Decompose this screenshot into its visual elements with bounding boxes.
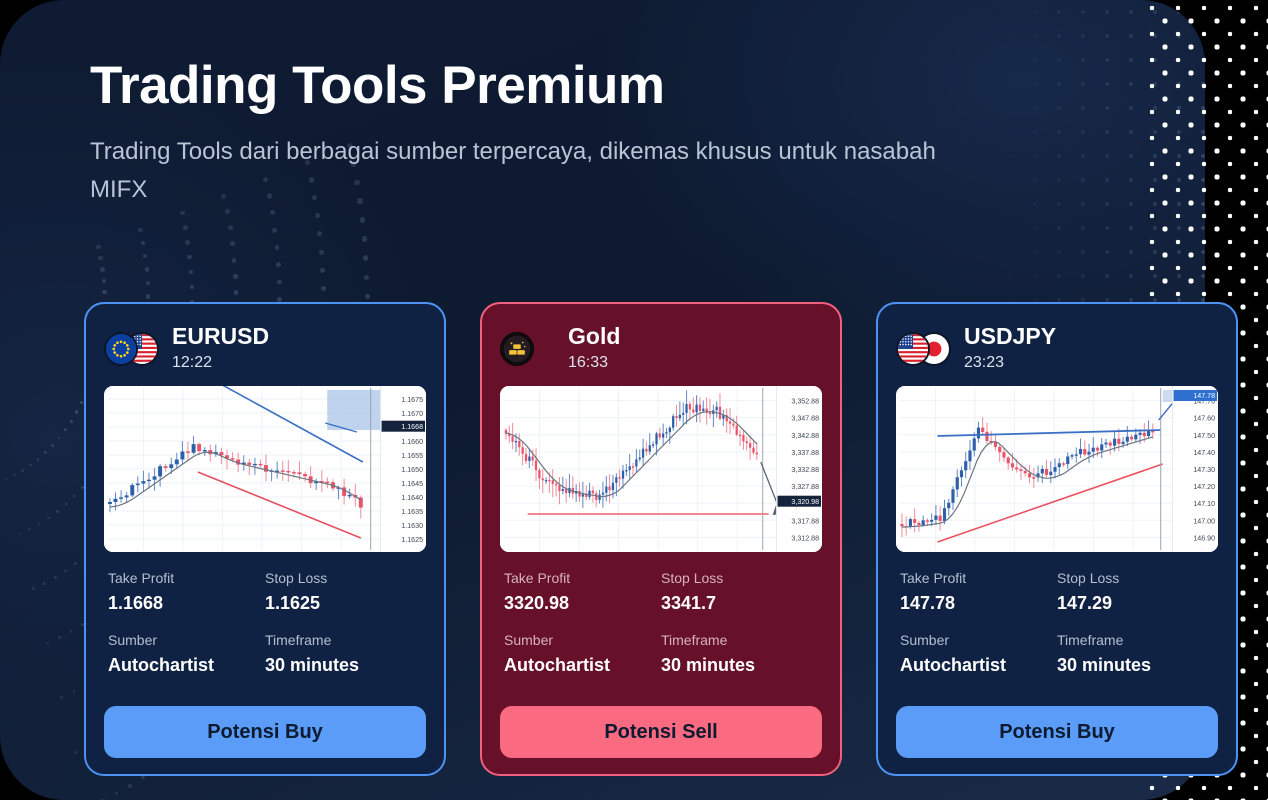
take-profit-value: 3320.98 (504, 590, 661, 616)
svg-text:147.00: 147.00 (1193, 517, 1215, 525)
svg-text:147.10: 147.10 (1193, 500, 1215, 508)
svg-text:1.1630: 1.1630 (401, 522, 423, 530)
us-flag-icon (896, 332, 930, 366)
signal-card-eurusd[interactable]: EURUSD 12:22 1.16751.16701.16651.16601.1… (84, 302, 446, 776)
potensi-cta-button[interactable]: Potensi Buy (104, 706, 426, 758)
svg-text:3,320.98: 3,320.98 (791, 498, 819, 506)
signal-card-usdjpy[interactable]: USDJPY 23:23 147.70147.60147.50147.40147… (876, 302, 1238, 776)
symbol-name: EURUSD (172, 323, 269, 349)
signal-card-gold[interactable]: Gold 16:33 3,352.883,347.883,342.883,337… (480, 302, 842, 776)
sumber-cell: Sumber Autochartist (900, 630, 1057, 678)
svg-text:1.1668: 1.1668 (401, 423, 423, 431)
svg-text:1.1660: 1.1660 (401, 438, 423, 446)
card-header: USDJPY 23:23 (896, 322, 1218, 376)
stop-loss-label: Stop Loss (1057, 568, 1214, 589)
stats-row-meta: Sumber Autochartist Timeframe 30 minutes (108, 630, 422, 678)
stats-row-targets: Take Profit 1.1668 Stop Loss 1.1625 (108, 568, 422, 616)
stop-loss-cell: Stop Loss 147.29 (1057, 568, 1214, 616)
card-header: Gold 16:33 (500, 322, 822, 376)
svg-text:147.50: 147.50 (1193, 432, 1215, 440)
hero-header: Trading Tools Premium Trading Tools dari… (90, 56, 970, 210)
page-title: Trading Tools Premium (90, 56, 970, 117)
stats-row-meta: Sumber Autochartist Timeframe 30 minutes (504, 630, 818, 678)
svg-text:3,347.88: 3,347.88 (791, 415, 819, 423)
svg-text:1.1650: 1.1650 (401, 466, 423, 474)
sumber-label: Sumber (900, 630, 1057, 651)
potensi-cta-button[interactable]: Potensi Sell (500, 706, 822, 758)
timeframe-value: 30 minutes (661, 652, 818, 678)
signal-time: 12:22 (172, 351, 269, 375)
svg-text:1.1655: 1.1655 (401, 452, 423, 460)
stats-row-targets: Take Profit 147.78 Stop Loss 147.29 (900, 568, 1214, 616)
svg-text:1.1675: 1.1675 (401, 396, 423, 404)
take-profit-label: Take Profit (900, 568, 1057, 589)
svg-text:1.1670: 1.1670 (401, 410, 423, 418)
sumber-value: Autochartist (900, 652, 1057, 678)
sumber-cell: Sumber Autochartist (108, 630, 265, 678)
svg-text:3,337.88: 3,337.88 (791, 449, 819, 457)
signal-card-list: EURUSD 12:22 1.16751.16701.16651.16601.1… (84, 302, 1238, 776)
take-profit-label: Take Profit (108, 568, 265, 589)
signal-stats: Take Profit 1.1668 Stop Loss 1.1625 Sumb… (104, 568, 426, 678)
timeframe-label: Timeframe (1057, 630, 1214, 651)
take-profit-value: 1.1668 (108, 590, 265, 616)
price-chart[interactable]: 1.16751.16701.16651.16601.16551.16501.16… (104, 386, 426, 552)
svg-text:147.20: 147.20 (1193, 483, 1215, 491)
symbol-name: USDJPY (964, 323, 1056, 349)
svg-text:3,342.88: 3,342.88 (791, 432, 819, 440)
symbol-name: Gold (568, 323, 620, 349)
svg-text:3,352.88: 3,352.88 (791, 398, 819, 406)
stop-loss-value: 3341.7 (661, 590, 818, 616)
gold-bars-icon (500, 332, 556, 366)
potensi-cta-button[interactable]: Potensi Buy (896, 706, 1218, 758)
svg-text:1.1645: 1.1645 (401, 480, 423, 488)
svg-text:3,317.88: 3,317.88 (791, 517, 819, 525)
timeframe-label: Timeframe (265, 630, 422, 651)
flag-pair-eu-us (104, 332, 160, 366)
stop-loss-label: Stop Loss (661, 568, 818, 589)
stop-loss-value: 147.29 (1057, 590, 1214, 616)
svg-text:146.90: 146.90 (1193, 534, 1215, 542)
take-profit-cell: Take Profit 147.78 (900, 568, 1057, 616)
sumber-label: Sumber (108, 630, 265, 651)
svg-text:147.60: 147.60 (1193, 415, 1215, 423)
take-profit-cell: Take Profit 3320.98 (504, 568, 661, 616)
stats-row-targets: Take Profit 3320.98 Stop Loss 3341.7 (504, 568, 818, 616)
svg-text:1.1625: 1.1625 (401, 536, 423, 544)
stats-row-meta: Sumber Autochartist Timeframe 30 minutes (900, 630, 1214, 678)
take-profit-cell: Take Profit 1.1668 (108, 568, 265, 616)
signal-time: 16:33 (568, 351, 620, 375)
flag-pair-us-jp (896, 332, 952, 366)
take-profit-label: Take Profit (504, 568, 661, 589)
sumber-cell: Sumber Autochartist (504, 630, 661, 678)
sumber-label: Sumber (504, 630, 661, 651)
timeframe-value: 30 minutes (1057, 652, 1214, 678)
sumber-value: Autochartist (108, 652, 265, 678)
price-chart[interactable]: 147.70147.60147.50147.40147.30147.20147.… (896, 386, 1218, 552)
timeframe-label: Timeframe (661, 630, 818, 651)
svg-text:3,332.88: 3,332.88 (791, 466, 819, 474)
stop-loss-label: Stop Loss (265, 568, 422, 589)
svg-text:147.78: 147.78 (1193, 392, 1215, 400)
eu-flag-icon (104, 332, 138, 366)
signal-stats: Take Profit 147.78 Stop Loss 147.29 Sumb… (896, 568, 1218, 678)
svg-text:1.1640: 1.1640 (401, 494, 423, 502)
svg-text:3,312.88: 3,312.88 (791, 534, 819, 542)
take-profit-value: 147.78 (900, 590, 1057, 616)
stop-loss-value: 1.1625 (265, 590, 422, 616)
timeframe-value: 30 minutes (265, 652, 422, 678)
stop-loss-cell: Stop Loss 1.1625 (265, 568, 422, 616)
price-chart[interactable]: 3,352.883,347.883,342.883,337.883,332.88… (500, 386, 822, 552)
page-subtitle: Trading Tools dari berbagai sumber terpe… (90, 133, 970, 210)
stop-loss-cell: Stop Loss 3341.7 (661, 568, 818, 616)
sumber-value: Autochartist (504, 652, 661, 678)
timeframe-cell: Timeframe 30 minutes (661, 630, 818, 678)
card-header: EURUSD 12:22 (104, 322, 426, 376)
svg-text:147.40: 147.40 (1193, 449, 1215, 457)
page-root: Trading Tools Premium Trading Tools dari… (0, 0, 1268, 800)
timeframe-cell: Timeframe 30 minutes (265, 630, 422, 678)
timeframe-cell: Timeframe 30 minutes (1057, 630, 1214, 678)
signal-stats: Take Profit 3320.98 Stop Loss 3341.7 Sum… (500, 568, 822, 678)
svg-text:3,327.88: 3,327.88 (791, 483, 819, 491)
svg-text:147.30: 147.30 (1193, 466, 1215, 474)
signal-time: 23:23 (964, 351, 1056, 375)
svg-text:1.1635: 1.1635 (401, 508, 423, 516)
